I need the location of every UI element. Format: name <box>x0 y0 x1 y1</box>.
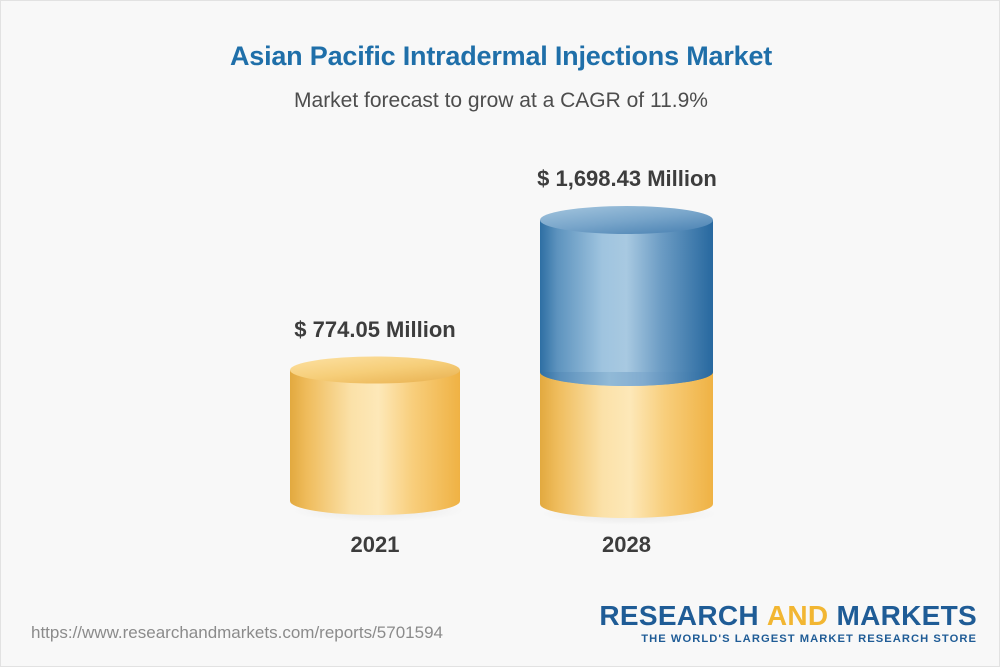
value-label-2021: $ 774.05 Million <box>260 317 490 343</box>
chart-canvas: Asian Pacific Intradermal Injections Mar… <box>0 0 1000 667</box>
chart-title: Asian Pacific Intradermal Injections Mar… <box>1 41 1000 72</box>
chart-subtitle: Market forecast to grow at a CAGR of 11.… <box>1 89 1000 113</box>
report-url[interactable]: https://www.researchandmarkets.com/repor… <box>31 623 443 643</box>
brand-word-markets: MARKETS <box>836 600 977 631</box>
brand-logo-wordmark: RESEARCHANDMARKETS <box>599 601 977 630</box>
bar-top-cap-2028 <box>540 206 713 234</box>
bar-body-2021 <box>290 370 460 515</box>
bar-body-2028-growth <box>540 220 713 386</box>
bar-cylinder-2028[interactable] <box>540 200 713 530</box>
brand-tagline: THE WORLD'S LARGEST MARKET RESEARCH STOR… <box>599 633 977 645</box>
bar-top-cap-2021 <box>290 357 460 384</box>
bar-cylinder-2021[interactable] <box>290 357 460 527</box>
x-axis-label-2028: 2028 <box>540 532 713 558</box>
brand-logo[interactable]: RESEARCHANDMARKETS THE WORLD'S LARGEST M… <box>599 601 977 645</box>
bar-body-2028-base <box>540 372 713 518</box>
value-label-2028: $ 1,698.43 Million <box>511 166 743 192</box>
brand-word-and: AND <box>767 600 829 631</box>
brand-word-research: RESEARCH <box>599 600 759 631</box>
x-axis-label-2021: 2021 <box>290 532 460 558</box>
